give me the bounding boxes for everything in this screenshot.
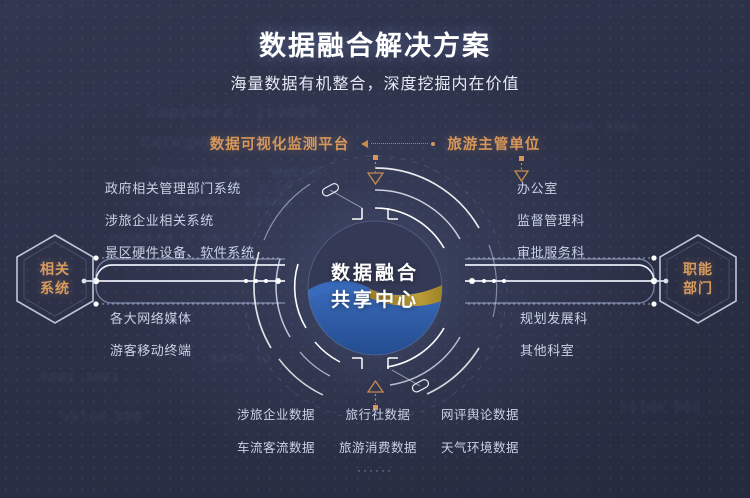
authority-label: 旅游主管单位 [447, 133, 540, 154]
ghost-text-6: value 000 [62, 410, 142, 426]
list-item: 各大网络媒体 [110, 308, 192, 327]
hexagon-right-label: 职能 部门 [657, 232, 739, 326]
core-line-2: 共享中心 [331, 288, 419, 315]
right-top-list: 办公室 监督管理科 审批服务科 [517, 178, 585, 274]
platform-label: 数据可视化监测平台 [210, 133, 350, 154]
infographic-canvas: Capybara: json@0 Category: delete $resul… [0, 0, 750, 498]
list-item: 天气环境数据 [432, 437, 528, 456]
arrow-down-top-center [368, 155, 383, 184]
top-label-row: 数据可视化监测平台 旅游主管单位 [0, 133, 750, 154]
ghost-text-8: p_id [258, 180, 291, 195]
list-item: 旅游消费数据 [330, 437, 426, 456]
list-item: 景区硬件设备、软件系统 [105, 242, 255, 261]
hex-left-line2: 系统 [40, 279, 70, 298]
core-label: 数据融合 共享中心 [297, 227, 453, 349]
page-title: 数据融合解决方案 [0, 24, 750, 63]
list-item: 审批服务科 [517, 242, 585, 261]
page-subtitle: 海量数据有机整合，深度挖掘内在价值 [0, 70, 750, 94]
hexagon-functional-departments[interactable]: 职能 部门 [657, 232, 739, 326]
right-bottom-list: 规划发展科 其他科室 [520, 308, 588, 372]
list-item: 规划发展科 [520, 308, 588, 327]
ghost-text-7: DATA 11 [210, 352, 272, 368]
hexagon-left-label: 相关 系统 [14, 232, 96, 326]
bottom-ellipsis: ······ [0, 463, 750, 477]
hex-right-line2: 部门 [683, 279, 713, 298]
bottom-data-grid: 涉旅企业数据 旅行社数据 网评舆论数据 车流客流数据 旅游消费数据 天气环境数据 [228, 404, 528, 456]
list-item: 涉旅企业相关系统 [105, 210, 255, 229]
list-item: 车流客流数据 [228, 437, 324, 456]
hex-right-line1: 职能 [683, 260, 713, 279]
ghost-text-0: Capybara: json@0 [148, 104, 319, 123]
left-bottom-list: 各大网络媒体 游客移动终端 [110, 308, 192, 372]
list-item: 游客移动终端 [110, 340, 192, 359]
hex-left-line1: 相关 [40, 260, 70, 279]
connector-dotted-arrow [361, 139, 435, 149]
dotted-line [371, 143, 428, 144]
hexagon-related-systems[interactable]: 相关 系统 [14, 232, 96, 326]
list-item: 办公室 [517, 178, 585, 197]
list-item: 监督管理科 [517, 210, 585, 229]
list-item: 网评舆论数据 [432, 404, 528, 423]
left-top-list: 政府相关管理部门系统 涉旅企业相关系统 景区硬件设备、软件系统 [105, 178, 255, 274]
list-item: 旅行社数据 [330, 404, 426, 423]
core-line-1: 数据融合 [331, 261, 419, 288]
list-item: 涉旅企业数据 [228, 404, 324, 423]
dot-icon [431, 142, 435, 146]
ghost-text-5: 0101 1001 [40, 370, 120, 386]
ghost-text-10: value 000 [620, 400, 700, 416]
list-item: 其他科室 [520, 340, 588, 359]
list-item: 政府相关管理部门系统 [105, 178, 255, 197]
arrow-left-icon [361, 140, 368, 148]
